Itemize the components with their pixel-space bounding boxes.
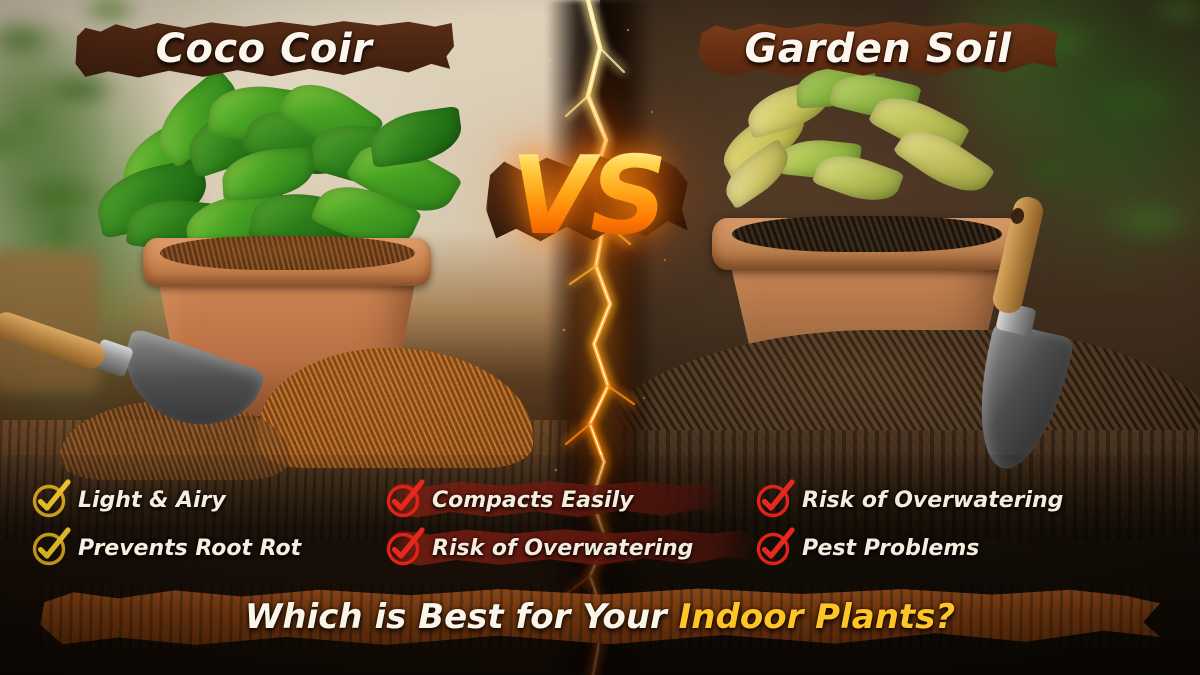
left-title-text: Coco Coir — [156, 26, 373, 72]
check-circle-icon — [28, 480, 68, 520]
list-item: Light & Airy — [28, 476, 358, 524]
right-scene-garden-soil — [600, 0, 1200, 675]
left-title-banner: Coco Coir — [74, 18, 454, 80]
versus-badge: VS — [482, 132, 692, 262]
right-title-banner: Garden Soil — [698, 18, 1058, 80]
feature-label: Risk of Overwatering — [432, 536, 693, 561]
feature-column-left: Light & Airy Prevents Root Rot — [28, 476, 358, 572]
feature-label: Pest Problems — [802, 536, 979, 561]
feature-label: Prevents Root Rot — [78, 536, 301, 561]
list-item: Compacts Easily — [382, 476, 732, 524]
garden-soil-surface — [732, 216, 1002, 252]
list-item: Risk of Overwatering — [752, 476, 1172, 524]
headline-accent: Indoor Plants? — [679, 597, 955, 637]
list-item: Prevents Root Rot — [28, 524, 358, 572]
feature-label: Light & Airy — [78, 488, 226, 513]
feature-column-middle: Compacts Easily Risk of Overwatering — [382, 476, 732, 572]
list-item: Risk of Overwatering — [382, 524, 732, 572]
feature-label: Risk of Overwatering — [802, 488, 1063, 513]
comparison-infographic: Coco Coir Garden Soil VS Light & Airy — [0, 0, 1200, 675]
check-circle-icon — [382, 480, 422, 520]
feature-comparison-lists: Light & Airy Prevents Root Rot — [0, 476, 1200, 572]
right-title-text: Garden Soil — [745, 26, 1012, 72]
feature-column-right: Risk of Overwatering Pest Problems — [752, 476, 1172, 572]
versus-text: VS — [510, 143, 663, 251]
left-scene-coco-coir — [0, 0, 600, 675]
headline-lead: Which is Best for Your — [245, 597, 667, 637]
list-item: Pest Problems — [752, 524, 1172, 572]
bottom-headline: Which is Best for Your Indoor Plants? — [245, 597, 955, 637]
check-circle-icon — [752, 528, 792, 568]
bottom-question-banner: Which is Best for Your Indoor Plants? — [40, 586, 1160, 648]
check-circle-icon — [382, 528, 422, 568]
check-circle-icon — [28, 528, 68, 568]
coco-coir-surface — [160, 236, 415, 270]
feature-label: Compacts Easily — [432, 488, 633, 513]
check-circle-icon — [752, 480, 792, 520]
